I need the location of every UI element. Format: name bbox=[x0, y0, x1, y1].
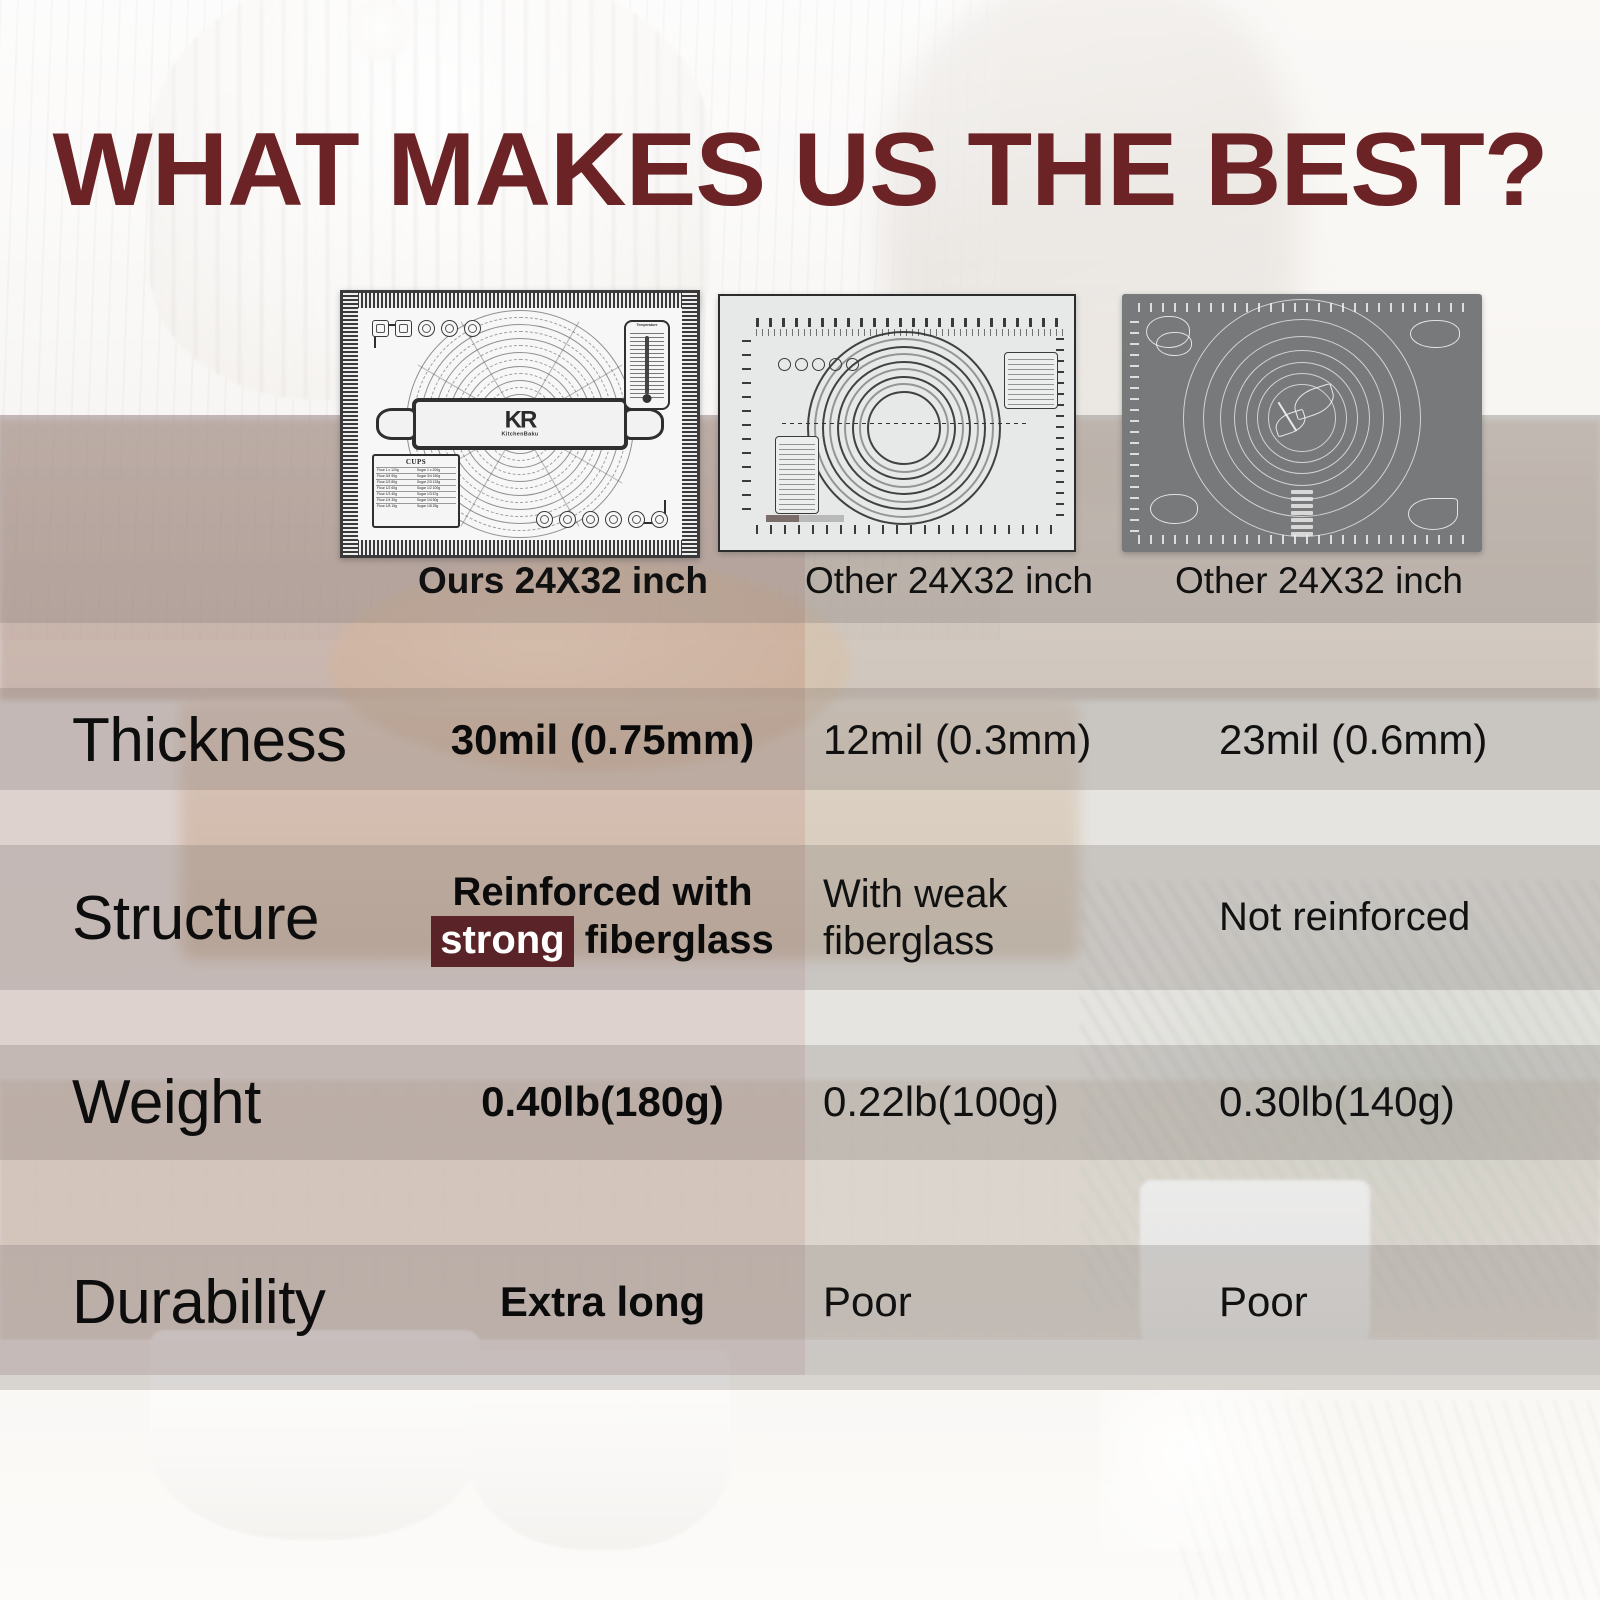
freezer-safe-icon bbox=[559, 511, 576, 528]
product-label-row: Ours 24X32 inch Other 24X32 inch Other 2… bbox=[0, 560, 1600, 610]
snowflake-icon bbox=[846, 358, 859, 371]
radius-labels bbox=[1291, 490, 1313, 536]
heat-resistant-icon bbox=[605, 511, 622, 528]
cupcake-icon bbox=[395, 320, 412, 337]
bread-icon bbox=[1410, 320, 1460, 348]
comparison-row-structure: Structure Reinforced with strong fibergl… bbox=[0, 858, 1600, 978]
conversion-table-top bbox=[1004, 352, 1058, 409]
walnut-icon bbox=[1150, 494, 1198, 524]
cookie-icon bbox=[418, 320, 435, 337]
thermometer-caption: Temperature bbox=[626, 322, 668, 327]
spiral-icon bbox=[464, 320, 481, 337]
structure-value-ours: Reinforced with strong fiberglass bbox=[400, 869, 805, 967]
ruler-right-icon bbox=[682, 293, 697, 555]
durability-value-other-1: Poor bbox=[805, 1278, 1175, 1325]
cup-icon bbox=[812, 358, 825, 371]
strong-highlight-badge: strong bbox=[431, 916, 573, 967]
durability-value-other-2: Poor bbox=[1175, 1278, 1545, 1325]
structure-value-other-1: With weak fiberglass bbox=[805, 871, 1175, 965]
weight-value-other-1: 0.22lb(100g) bbox=[805, 1078, 1175, 1125]
cups-cell: Sugar 1/8 25g bbox=[416, 503, 456, 509]
page-title: WHAT MAKES US THE BEST? bbox=[0, 118, 1600, 222]
structure-ours-line1: Reinforced with bbox=[400, 869, 805, 916]
mat-icon-row-top bbox=[372, 320, 481, 337]
thickness-value-ours: 30mil (0.75mm) bbox=[400, 716, 805, 763]
structure-ours-line2: strong fiberglass bbox=[400, 916, 805, 967]
center-measure-line bbox=[782, 423, 1030, 424]
product-image-other-2 bbox=[1122, 294, 1482, 552]
comparison-row-thickness: Thickness 30mil (0.75mm) 12mil (0.3mm) 2… bbox=[0, 700, 1600, 780]
product-label-other-2: Other 24X32 inch bbox=[1175, 560, 1463, 602]
structure-value-other-2: Not reinforced bbox=[1175, 894, 1545, 941]
mat-icon-row-bottom bbox=[536, 511, 668, 528]
non-stick-icon bbox=[651, 511, 668, 528]
structure-other1-line2: fiberglass bbox=[823, 918, 1175, 965]
comparison-row-weight: Weight 0.40lb(180g) 0.22lb(100g) 0.30lb(… bbox=[0, 1058, 1600, 1146]
clock-icon bbox=[829, 358, 842, 371]
row-label-weight: Weight bbox=[0, 1067, 400, 1138]
thermometer-bulb-icon bbox=[643, 394, 652, 403]
comparison-row-durability: Durability Extra long Poor Poor bbox=[0, 1258, 1600, 1346]
row-label-durability: Durability bbox=[0, 1267, 400, 1338]
ruler-top-icon bbox=[343, 293, 697, 308]
pretzel-icon-2 bbox=[1156, 332, 1192, 356]
product-label-other-1: Other 24X32 inch bbox=[805, 560, 1093, 602]
durability-value-ours: Extra long bbox=[400, 1278, 805, 1325]
thermometer-tube-icon bbox=[645, 336, 649, 394]
brand-logo-mark: KR bbox=[502, 410, 539, 432]
weight-value-other-2: 0.30lb(140g) bbox=[1175, 1078, 1545, 1125]
ruler-bottom-icon bbox=[756, 525, 1064, 534]
ruler-left-icon bbox=[742, 338, 751, 510]
ruler-bottom-icon bbox=[343, 540, 697, 555]
brand-logo-text: KitchenBaku bbox=[502, 431, 539, 437]
table-lines bbox=[779, 440, 815, 510]
product-image-ours: KR KitchenBaku CUPS Flour 1 c 120g Sugar… bbox=[340, 290, 700, 558]
conversion-table-left bbox=[775, 436, 819, 514]
infographic-canvas: WHAT MAKES US THE BEST? bbox=[0, 0, 1600, 1600]
ruler-top-icon bbox=[756, 318, 1064, 327]
whisk-icon bbox=[778, 358, 791, 371]
table-lines bbox=[1008, 356, 1054, 405]
funnel-icon bbox=[795, 358, 808, 371]
bread-loaf-icon bbox=[372, 320, 389, 337]
food-grade-icon bbox=[582, 511, 599, 528]
pie-icon bbox=[441, 320, 458, 337]
thermometer-graphic: Temperature bbox=[624, 320, 670, 410]
dishwasher-safe-icon bbox=[536, 511, 553, 528]
row-label-thickness: Thickness bbox=[0, 705, 400, 776]
product-label-ours: Ours 24X32 inch bbox=[418, 560, 708, 602]
no-bpa-icon bbox=[628, 511, 645, 528]
weight-value-ours: 0.40lb(180g) bbox=[400, 1078, 805, 1125]
product-image-other-1 bbox=[718, 294, 1076, 552]
rolling-pin-handle-right bbox=[624, 408, 664, 440]
ruler-left-icon bbox=[343, 293, 358, 555]
structure-other1-line1: With weak bbox=[823, 871, 1175, 918]
thickness-value-other-1: 12mil (0.3mm) bbox=[805, 716, 1175, 763]
cups-conversion-table: CUPS Flour 1 c 120g Sugar 1 c 200g Flour… bbox=[372, 454, 460, 528]
rolling-pin-handle-left bbox=[376, 408, 416, 440]
measure-bar-graphic bbox=[766, 515, 844, 522]
row-label-structure: Structure bbox=[0, 883, 400, 954]
ruler-left-icon bbox=[1130, 314, 1139, 532]
cups-table-grid: Flour 1 c 120g Sugar 1 c 200g Flour 3/4 … bbox=[376, 467, 456, 509]
structure-ours-suffix: fiberglass bbox=[585, 918, 774, 962]
thickness-value-other-2: 23mil (0.6mm) bbox=[1175, 716, 1545, 763]
cups-cell: Flour 1/8 15g bbox=[376, 503, 416, 509]
mat-icon-row bbox=[778, 358, 859, 371]
rolling-pin-graphic: KR KitchenBaku bbox=[412, 398, 628, 450]
pizza-slice-icon bbox=[1408, 498, 1458, 530]
cups-table-title: CUPS bbox=[376, 458, 456, 466]
